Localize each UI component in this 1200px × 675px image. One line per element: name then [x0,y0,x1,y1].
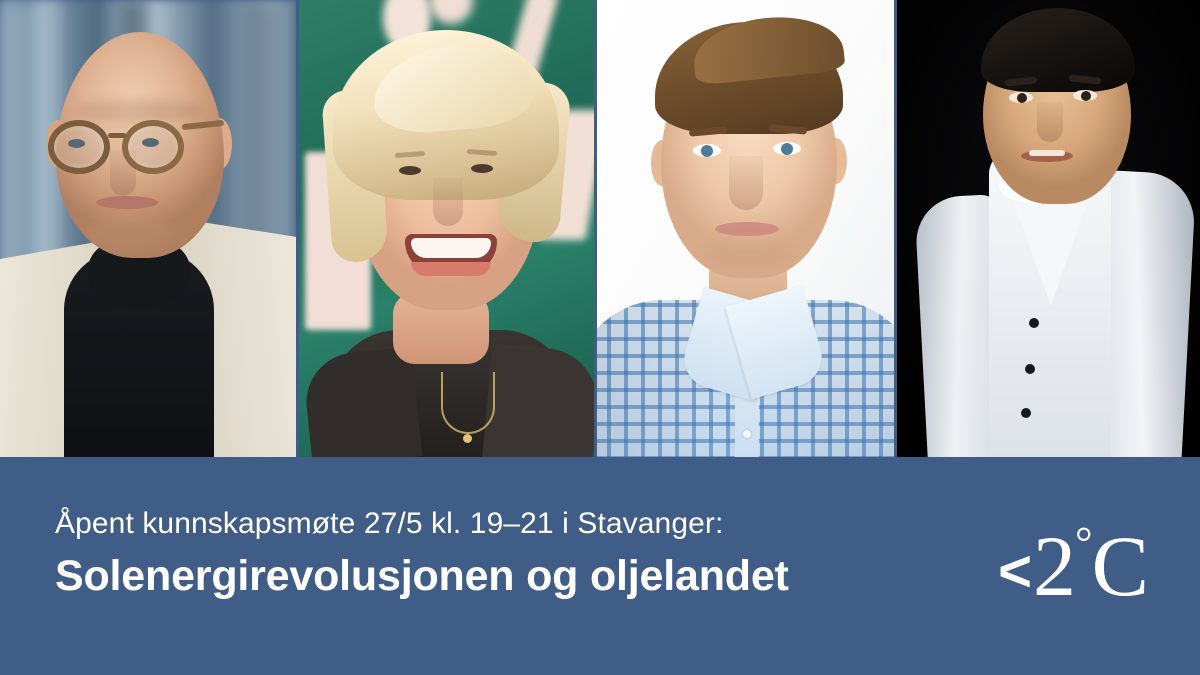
nose [433,178,463,226]
teeth [1029,150,1065,156]
eyeglasses-left-lens [48,120,110,174]
event-poster: Åpent kunnskapsmøte 27/5 kl. 19–21 i Sta… [0,0,1200,675]
iris-right [1081,91,1091,101]
speaker-photo-4 [897,0,1200,457]
banner-text-block: Åpent kunnskapsmøte 27/5 kl. 19–21 i Sta… [55,507,789,601]
iris-left [1017,93,1027,103]
less-than-two-degrees-logo: < 2 ° C [998,523,1148,609]
lower-lip [411,262,491,276]
speaker-photo-2 [299,0,593,457]
event-banner: Åpent kunnskapsmøte 27/5 kl. 19–21 i Sta… [0,457,1200,675]
logo-less-than-sign: < [998,543,1031,601]
iris-right [781,143,793,155]
nose [1037,102,1063,142]
eyeglasses-bridge [108,133,126,138]
chin-shadow [86,212,172,250]
waistcoat-button-1 [1029,318,1039,328]
teeth [411,238,491,258]
iris-left [701,145,713,157]
shoulder-right [482,343,593,457]
waistcoat-button-3 [1021,408,1031,418]
waistcoat-button-2 [1025,364,1035,374]
mouth [715,222,779,236]
necklace-chain [441,372,495,434]
logo-degree-symbol: ° [1075,521,1092,565]
mouth [96,196,158,209]
speaker-photo-3 [597,0,894,457]
nose [729,156,763,210]
eyeglasses-right-lens [122,120,184,174]
brow-shadow [74,100,204,122]
logo-number: 2 [1033,523,1075,609]
chin-shadow [703,238,793,272]
event-kicker: Åpent kunnskapsmøte 27/5 kl. 19–21 i Sta… [55,507,789,540]
logo-celsius-letter: C [1092,523,1148,609]
speaker-photo-strip [0,0,1200,457]
event-headline: Solenergirevolusjonen og oljelandet [55,552,789,601]
shirt-button-2 [743,430,751,438]
speaker-photo-1 [0,0,296,457]
